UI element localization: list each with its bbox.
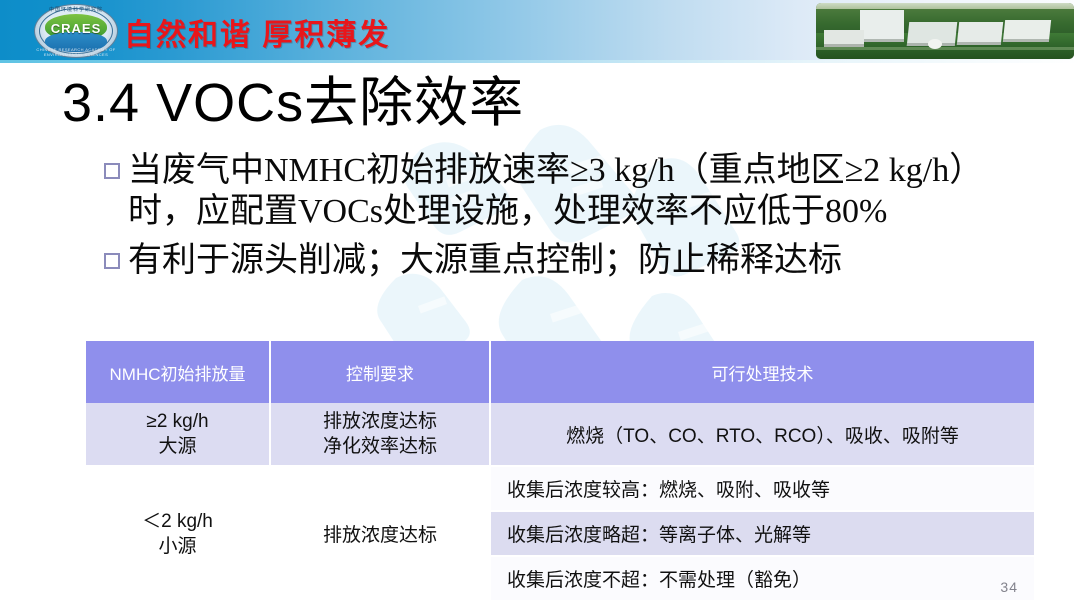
col-header-requirement: 控制要求 [270,341,490,403]
bullet-item: 当废气中NMHC初始排放速率≥3 kg/h（重点地区≥2 kg/h）时，应配置V… [104,150,1024,233]
technology-option: 收集后浓度较高：燃烧、吸附、吸收等 [491,467,1034,511]
emission-value: ＜2 kg/h [94,509,261,534]
cell-requirement-large: 排放浓度达标 净化效率达标 [270,403,490,466]
bullet-text: 当废气中NMHC初始排放速率≥3 kg/h（重点地区≥2 kg/h）时，应配置V… [128,150,1024,233]
square-bullet-icon [104,253,120,269]
cell-technology-small: 收集后浓度较高：燃烧、吸附、吸收等 收集后浓度略超：等离子体、光解等 收集后浓度… [490,466,1034,601]
bullet-list: 当废气中NMHC初始排放速率≥3 kg/h（重点地区≥2 kg/h）时，应配置V… [104,150,1024,281]
logo-bottom-chars: CHINESE RESEARCH ACADEMY OF ENVIRONMENTA… [34,47,118,57]
vocs-treatment-table: NMHC初始排放量 控制要求 可行处理技术 ≥2 kg/h 大源 排放浓度达标 … [86,341,1034,602]
photo-building-tower [860,10,904,42]
campus-photo [816,3,1074,59]
banner-slogan: 自然和谐 厚积薄发 [124,10,390,54]
emission-value: ≥2 kg/h [94,409,261,434]
slide-canvas: 中国环境科学研究院 CRAES CHINESE RESEARCH ACADEMY… [0,0,1080,607]
technology-subrow: 收集后浓度不超：不需处理（豁免） [491,556,1034,600]
requirement-line-1: 排放浓度达标 [279,409,481,434]
technology-option: 收集后浓度不超：不需处理（豁免） [491,556,1034,600]
bullet-text: 有利于源头削减；大源重点控制；防止稀释达标 [128,240,842,281]
technology-subrow: 收集后浓度略超：等离子体、光解等 [491,511,1034,556]
table-row: ≥2 kg/h 大源 排放浓度达标 净化效率达标 燃烧（TO、CO、RTO、RC… [86,403,1034,466]
cell-requirement-small: 排放浓度达标 [270,466,490,601]
bullet-item: 有利于源头削减；大源重点控制；防止稀释达标 [104,240,1024,281]
craes-logo: 中国环境科学研究院 CRAES CHINESE RESEARCH ACADEMY… [34,4,118,58]
emission-label: 小源 [94,534,261,559]
page-number: 34 [1000,579,1018,595]
photo-building-c [1003,20,1051,42]
photo-dome [928,39,942,49]
logo-acronym: CRAES [34,21,118,36]
col-header-technology: 可行处理技术 [490,341,1034,403]
emission-label: 大源 [94,434,261,459]
col-header-emission: NMHC初始排放量 [86,341,270,403]
photo-building-b [957,22,1003,45]
cell-technology-large: 燃烧（TO、CO、RTO、RCO）、吸收、吸附等 [490,403,1034,466]
technology-sublist: 收集后浓度较高：燃烧、吸附、吸收等 收集后浓度略超：等离子体、光解等 收集后浓度… [491,467,1034,600]
requirement-line-2: 净化效率达标 [279,434,481,459]
cell-emission-large: ≥2 kg/h 大源 [86,403,270,466]
cell-emission-small: ＜2 kg/h 小源 [86,466,270,601]
logo-top-chars: 中国环境科学研究院 [34,6,118,13]
technology-option: 收集后浓度略超：等离子体、光解等 [491,511,1034,556]
page-title: 3.4 VOCs去除效率 [62,58,524,137]
photo-road [816,47,1074,50]
table-header-row: NMHC初始排放量 控制要求 可行处理技术 [86,341,1034,403]
photo-building-d [824,30,864,47]
square-bullet-icon [104,163,120,179]
table-row: ＜2 kg/h 小源 排放浓度达标 收集后浓度较高：燃烧、吸附、吸收等 收集后浓… [86,466,1034,601]
technology-subrow: 收集后浓度较高：燃烧、吸附、吸收等 [491,467,1034,511]
